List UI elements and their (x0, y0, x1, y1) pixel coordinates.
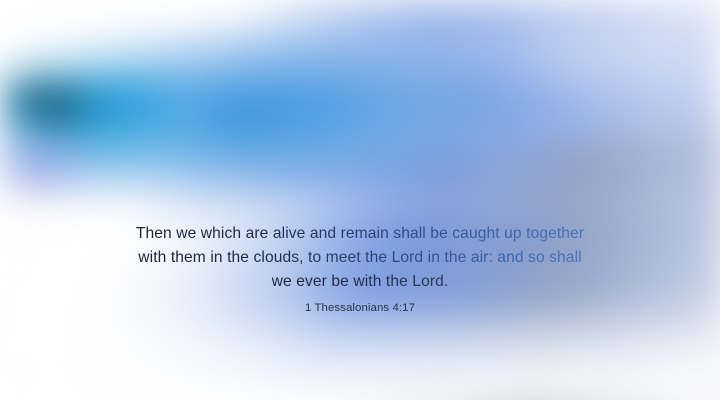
background-lavender-wash (0, 0, 720, 400)
background-upper-streak (0, 0, 720, 400)
background-main-streak (0, 0, 720, 400)
background-composite (0, 0, 720, 400)
background-top-left-highlight (0, 0, 720, 400)
verse-block: Then we which are alive and remain shall… (0, 222, 720, 316)
background-cloud-striations (0, 0, 720, 400)
verse-line-2-wrapper: with them in the clouds, to meet the Lor… (0, 246, 720, 270)
background-blue-field (0, 0, 720, 400)
background-base-layer (0, 0, 720, 400)
verse-line-1-wrapper: Then we which are alive and remain shall… (0, 222, 720, 246)
background-burst-core-inner (0, 0, 720, 400)
verse-reference: 1 Thessalonians 4:17 (0, 301, 720, 316)
background-burst-core (0, 0, 720, 400)
background-bottom-fade (0, 0, 720, 400)
scripture-image: Then we which are alive and remain shall… (0, 0, 720, 400)
verse-line-1: Then we which are alive and remain shall… (136, 222, 584, 246)
background-violet-tint (0, 0, 720, 400)
verse-line-3-wrapper: we ever be with the Lord. (0, 270, 720, 294)
verse-line-3: we ever be with the Lord. (272, 270, 449, 294)
verse-line-2: with them in the clouds, to meet the Lor… (138, 246, 581, 270)
background-cyan-halo (0, 0, 720, 400)
